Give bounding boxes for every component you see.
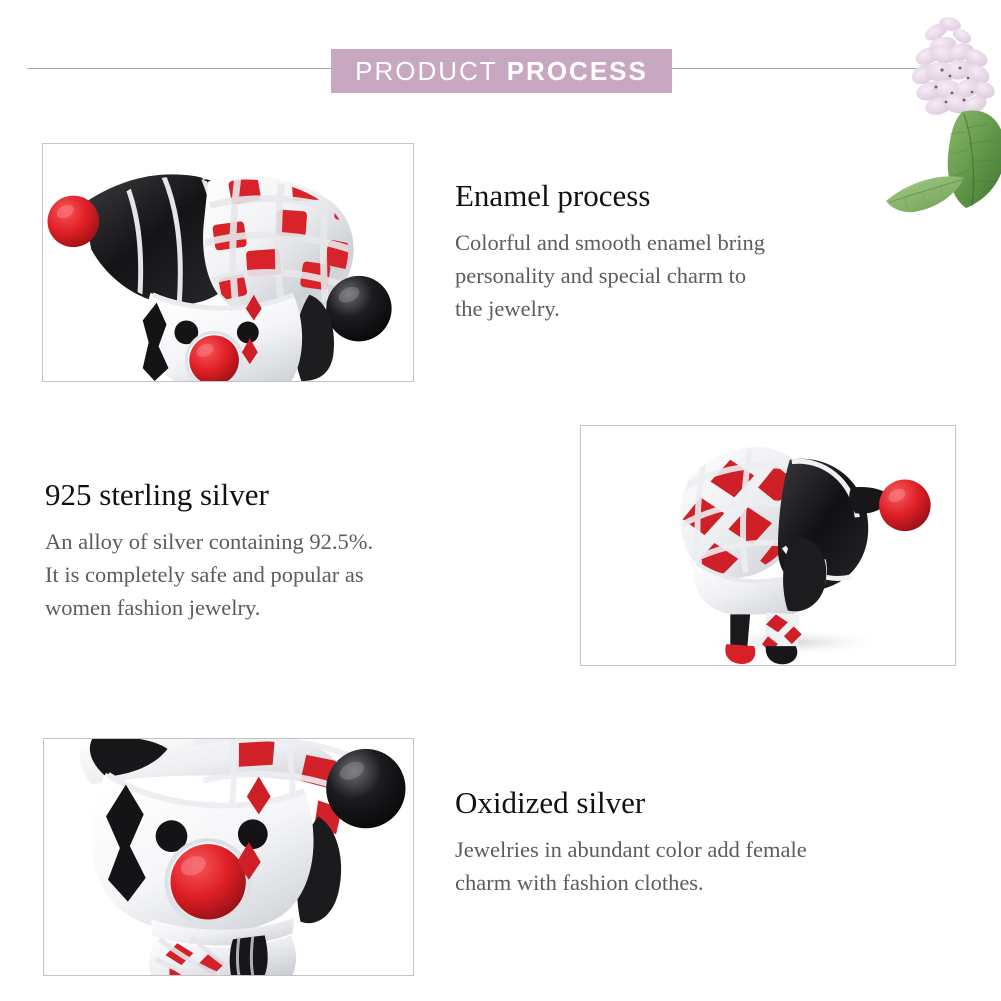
page-title-banner: PRODUCT PROCESS [331,49,672,93]
product-process-page: PRODUCT PROCESS [0,0,1001,1001]
section-text-sterling-silver: 925 sterling silver An alloy of silver c… [45,477,515,625]
section-text-oxidized-silver: Oxidized silver Jewelries in abundant co… [455,785,955,899]
banner-word-process: PROCESS [507,56,648,87]
body-line: the jewelry. [455,292,925,325]
product-image-enamel [42,143,414,382]
body-line: An alloy of silver containing 92.5%. [45,525,515,558]
product-image-sterling-silver [580,425,956,666]
banner-word-product: PRODUCT [355,56,498,87]
section-heading-oxidized-silver: Oxidized silver [455,785,955,821]
body-line: personality and special charm to [455,259,925,292]
section-body-oxidized-silver: Jewelries in abundant color add female c… [455,833,955,900]
section-text-enamel: Enamel process Colorful and smooth ename… [455,178,925,326]
body-line: It is completely safe and popular as [45,558,515,591]
section-body-sterling-silver: An alloy of silver containing 92.5%. It … [45,525,515,625]
section-heading-enamel: Enamel process [455,178,925,214]
body-line: Colorful and smooth enamel bring [455,226,925,259]
product-image-oxidized-silver [43,738,414,976]
section-heading-sterling-silver: 925 sterling silver [45,477,515,513]
section-body-enamel: Colorful and smooth enamel bring persona… [455,226,925,326]
body-line: charm with fashion clothes. [455,866,955,899]
body-line: Jewelries in abundant color add female [455,833,955,866]
body-line: women fashion jewelry. [45,591,515,624]
